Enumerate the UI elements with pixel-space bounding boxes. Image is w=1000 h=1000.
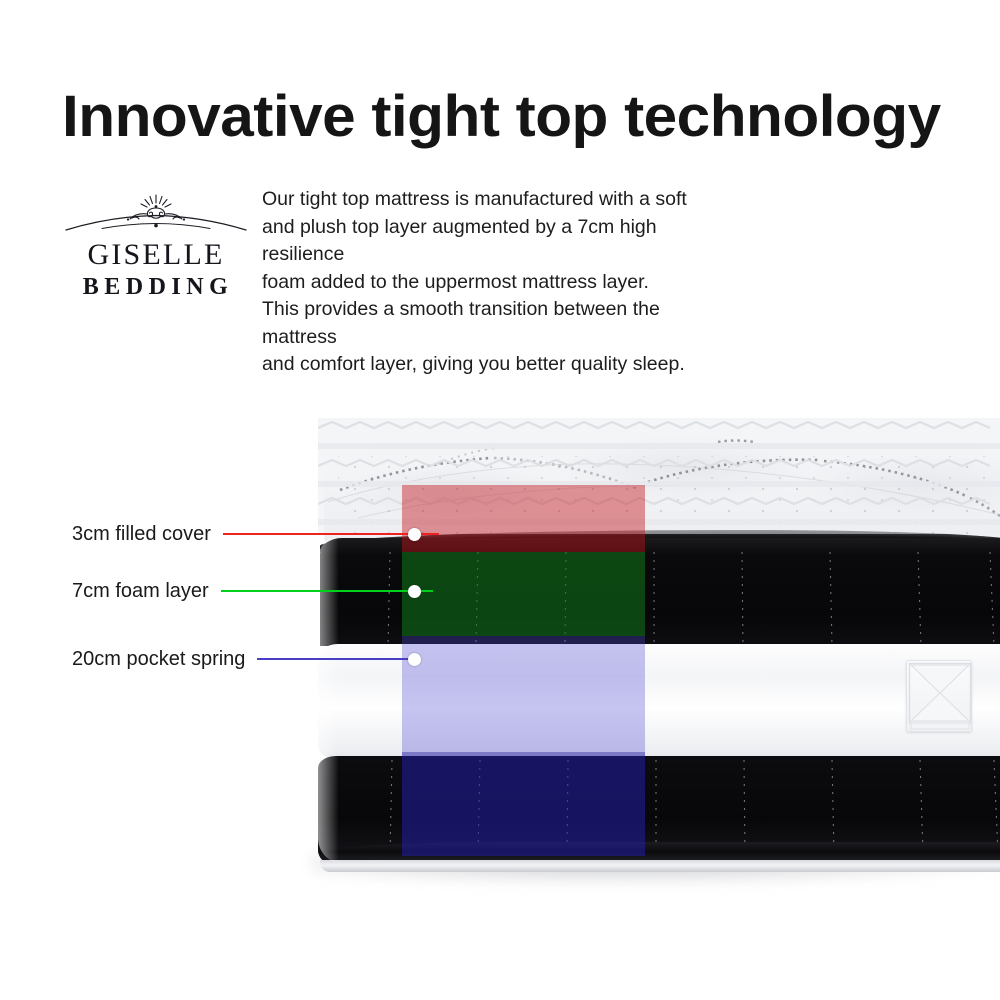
description-line-2: and plush top layer augmented by a 7cm h… <box>262 214 732 269</box>
callout-pocket-spring[interactable]: 20cm pocket spring <box>72 646 415 672</box>
leader-dot-filled-cover <box>408 528 421 541</box>
leader-line-foam-layer <box>221 590 433 592</box>
mattress-illustration <box>318 418 1000 868</box>
callout-pocket-spring-label: 20cm pocket spring <box>72 648 245 671</box>
crest-ornament-icon <box>62 192 250 240</box>
callout-filled-cover-label: 3cm filled cover <box>72 523 211 546</box>
callout-foam-layer-label: 7cm foam layer <box>72 580 209 603</box>
mattress-handle-icon <box>906 660 972 732</box>
mattress-base-strip <box>320 860 1000 872</box>
callout-foam-layer[interactable]: 7cm foam layer <box>72 578 433 604</box>
description-line-4: This provides a smooth transition betwee… <box>262 296 732 351</box>
product-feature-banner: Innovative tight top technology <box>0 0 1000 1000</box>
leader-line-pocket-spring <box>257 658 415 660</box>
description-line-3: foam added to the uppermost mattress lay… <box>262 269 732 297</box>
description-line-1: Our tight top mattress is manufactured w… <box>262 186 732 214</box>
zigzag-texture <box>318 418 1000 534</box>
mattress-photo <box>0 400 1000 960</box>
leader-dot-foam-layer <box>408 585 421 598</box>
brand-logo: GISELLE BEDDING <box>62 192 250 302</box>
brand-name: GISELLE <box>62 238 250 272</box>
leader-line-filled-cover <box>223 533 439 535</box>
page-title: Innovative tight top technology <box>62 86 998 148</box>
description-line-5: and comfort layer, giving you better qua… <box>262 351 732 379</box>
leader-dot-pocket-spring <box>408 653 421 666</box>
description-block: Our tight top mattress is manufactured w… <box>262 186 732 379</box>
callout-filled-cover[interactable]: 3cm filled cover <box>72 521 439 547</box>
brand-tagline: BEDDING <box>66 272 250 302</box>
